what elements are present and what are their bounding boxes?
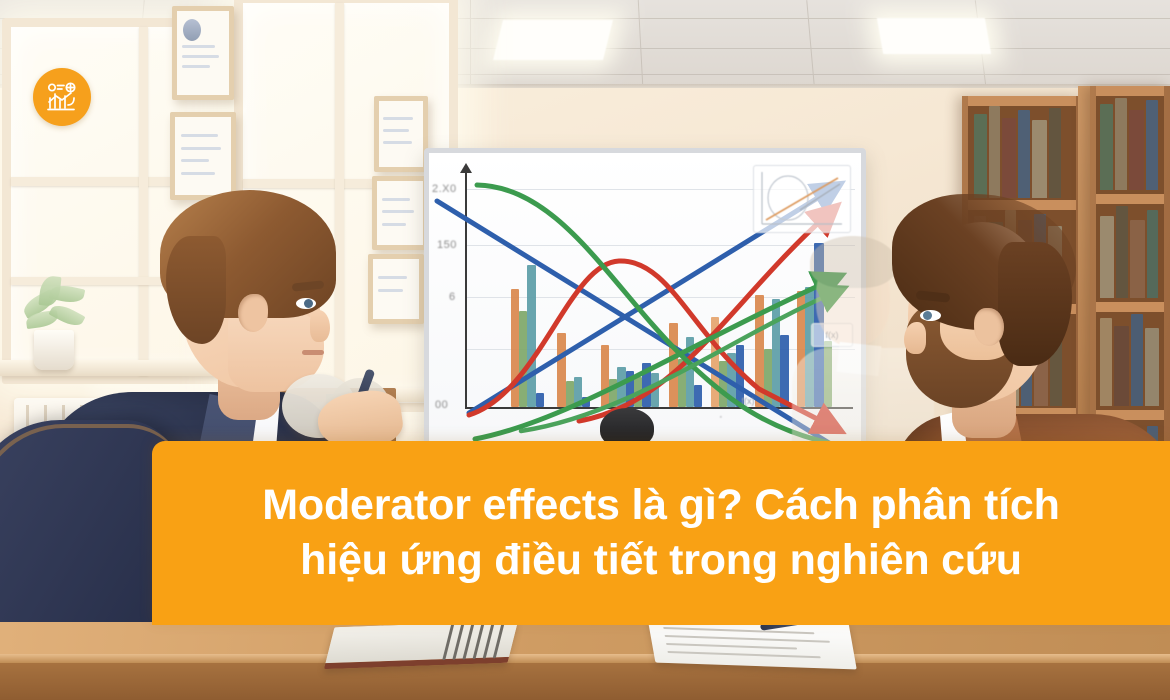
desk-edge (0, 654, 1170, 663)
certificate-seal (183, 19, 201, 41)
left-man-lips (302, 350, 324, 355)
analytics-bar-chart-logo[interactable] (33, 68, 91, 126)
title-line-2: hiệu ứng điều tiết trong nghiên cứu (300, 533, 1022, 588)
red-inverted-u-curve (469, 261, 829, 425)
framed-certificate (368, 254, 424, 324)
bar-chart-magnifier-icon (44, 79, 80, 115)
ceiling-light-panel (877, 18, 991, 54)
title-line-1: Moderator effects là gì? Cách phân tích (262, 478, 1059, 533)
right-man-nose (904, 322, 926, 354)
ceiling-light-panel (493, 20, 613, 60)
left-man-eye (296, 298, 316, 309)
hero-image: 2.X0 150 6 00 · · (0, 0, 1170, 700)
right-man-hair-side (998, 242, 1072, 366)
right-man-eye (920, 310, 941, 321)
green-rising-arrow (475, 281, 829, 439)
framed-certificate (172, 6, 234, 100)
left-man-ear (238, 294, 268, 332)
framed-certificate (372, 176, 428, 250)
framed-certificate (374, 96, 428, 172)
right-man-ear (974, 308, 1004, 346)
left-man-nose (310, 310, 330, 342)
whiteboard-note: f(x) (731, 391, 765, 411)
scatter-trend-sketch (753, 165, 851, 233)
title-banner: Moderator effects là gì? Cách phân tích … (152, 441, 1170, 625)
desk-surface (0, 622, 1170, 656)
spiral-notebook (324, 621, 518, 669)
left-man-hair-side (166, 236, 226, 344)
